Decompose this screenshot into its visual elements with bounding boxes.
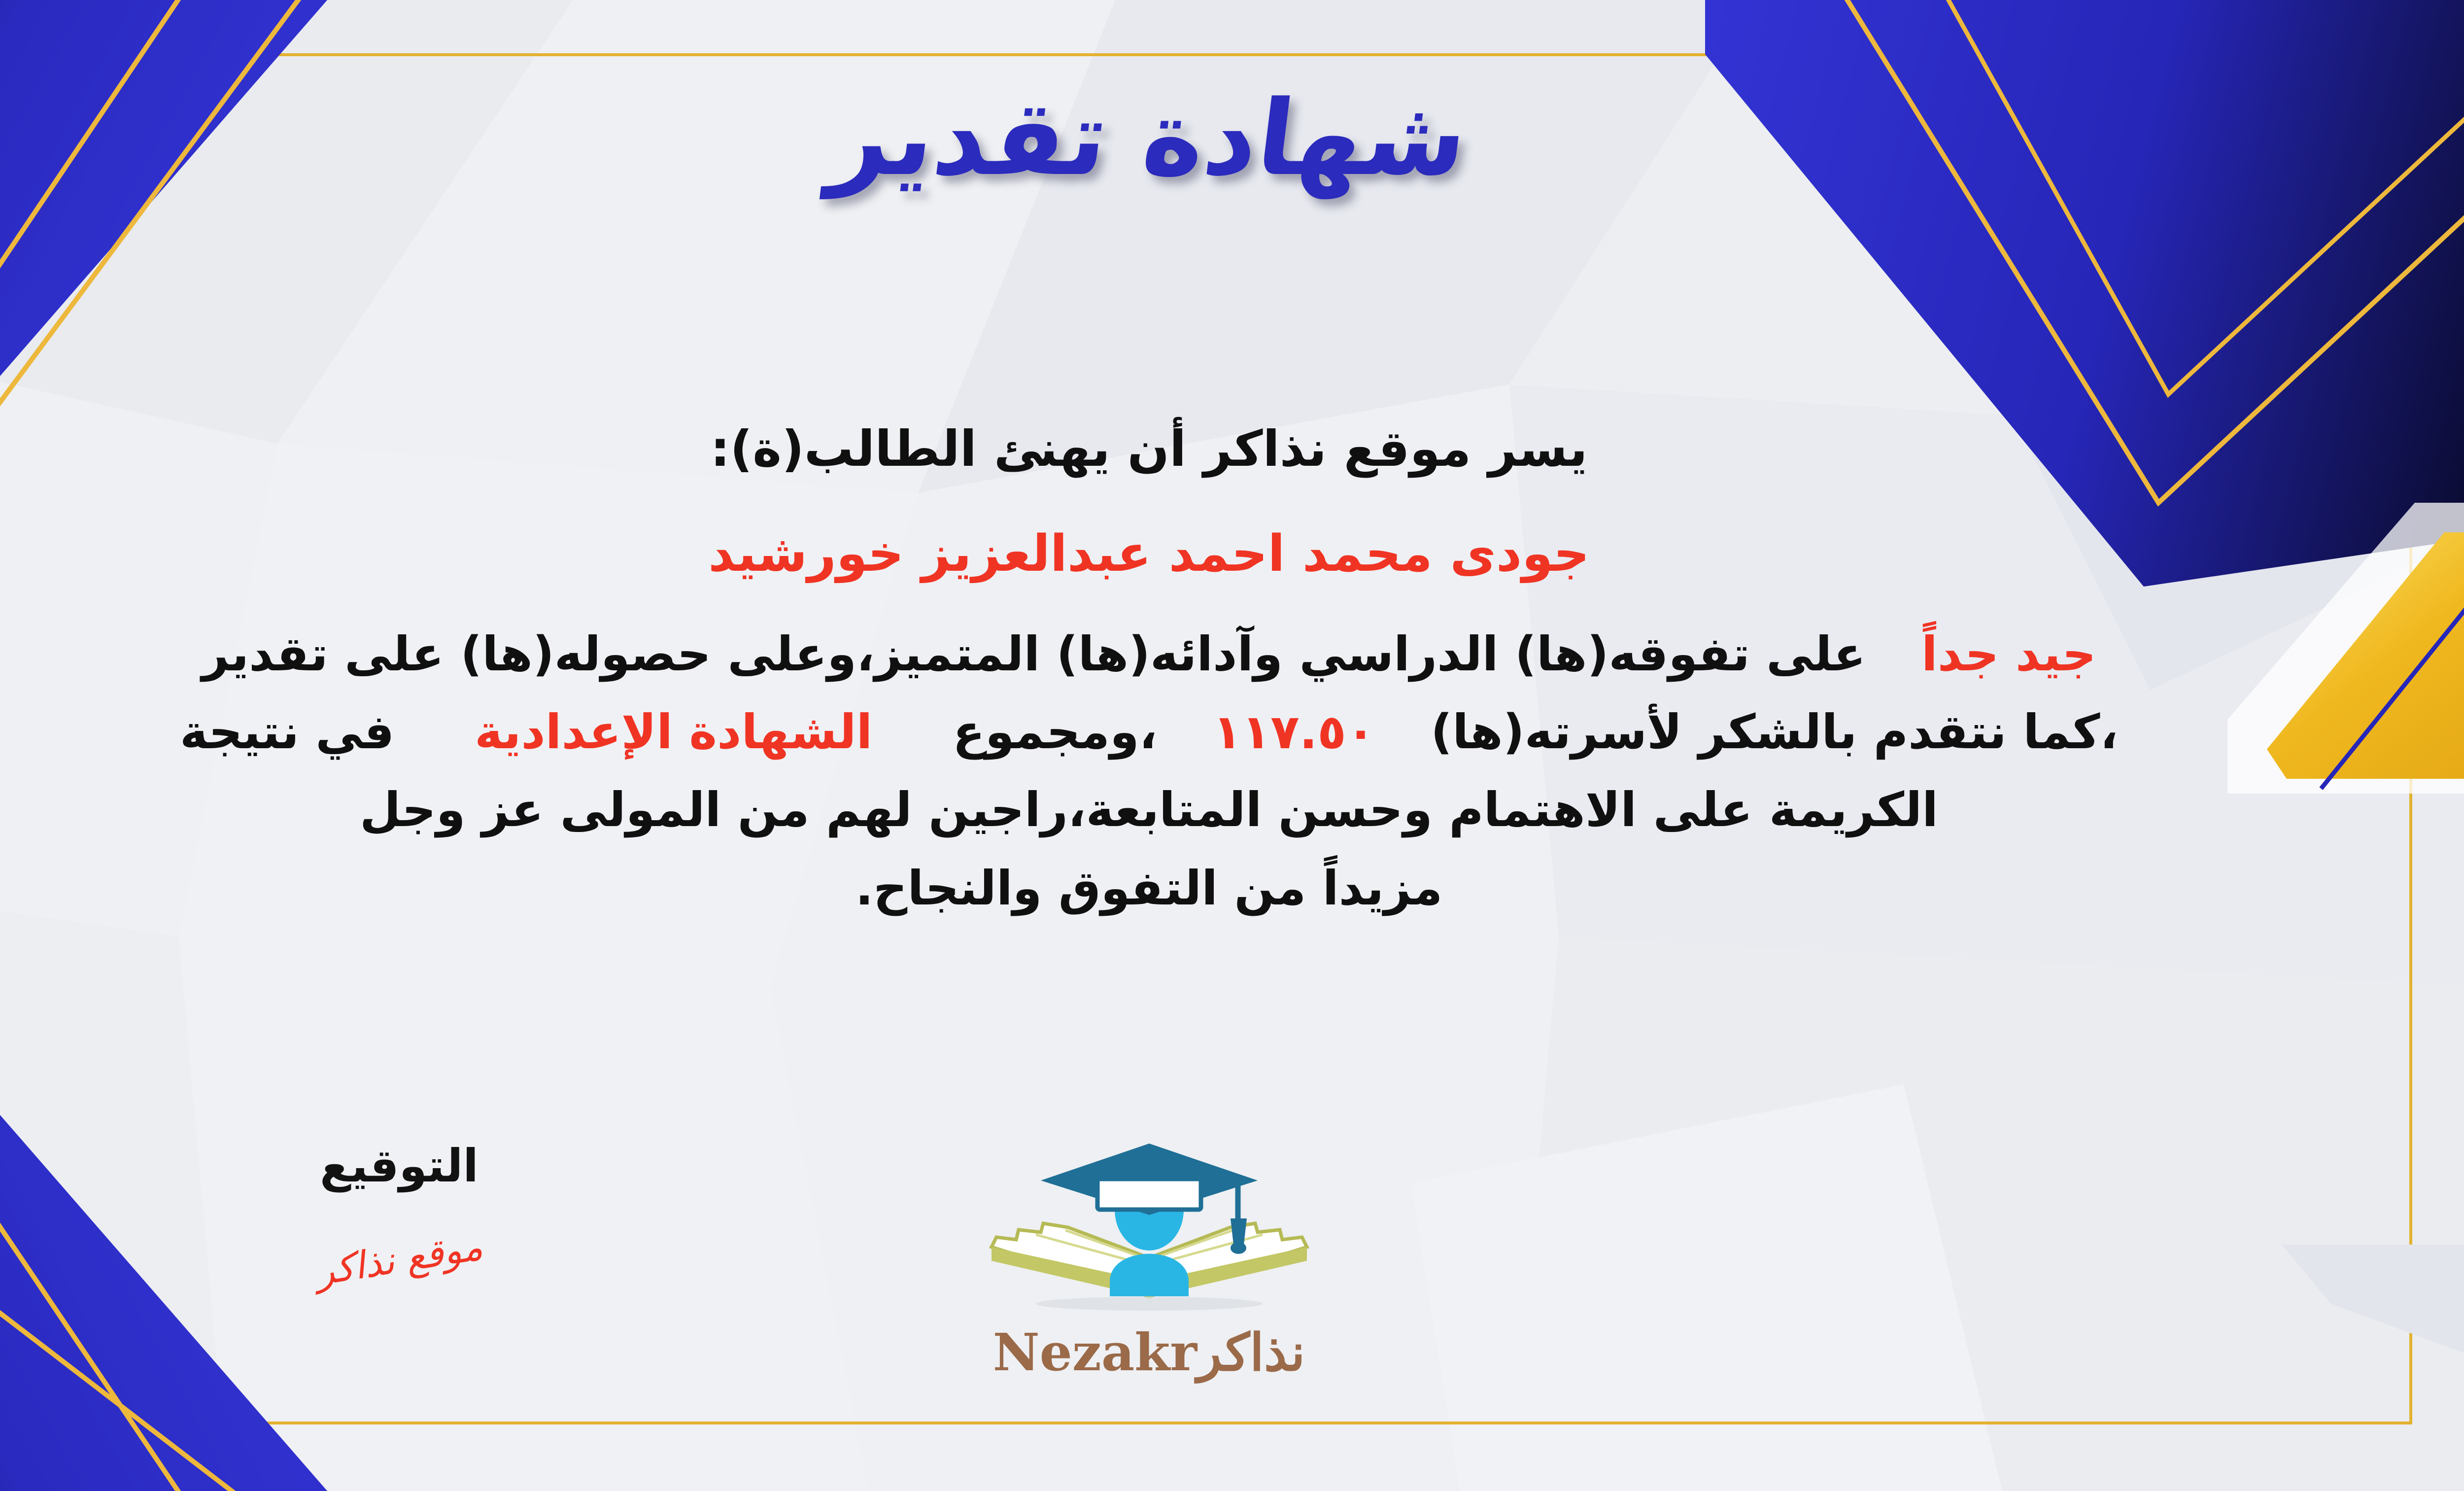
achievement-text: على تفوقه(ها) الدراسي وآدائه(ها) المتميز… [202, 626, 1866, 682]
body-line-wish: مزيداً من التفوق والنجاح. [0, 855, 2336, 922]
graduate-book-icon [962, 1134, 1336, 1331]
body-line-thanks: الكريمة على الاهتمام وحسن المتابعة،راجين… [0, 776, 2336, 843]
result-prefix: في نتيجة [180, 704, 394, 760]
total-score: ١١٧.٥٠ [1213, 704, 1375, 760]
body-line-result: ،كما نتقدم بالشكر لأسرته(ها) ١١٧.٥٠ ،ومج… [0, 698, 2336, 765]
body-line-greeting: يسر موقع نذاكر أن يهنئ الطالب(ة): [0, 414, 2336, 484]
signature-label: التوقيع [246, 1144, 552, 1189]
signature-mark: موقع نذاكر [313, 1224, 486, 1294]
certificate-page: شهادة تقدير يسر موقع نذاكر أن يهنئ الطال… [0, 0, 2464, 1491]
logo-wordmark: نذاكرNezakr [962, 1322, 1336, 1383]
body-line-achievement: جيد جداً على تفوقه(ها) الدراسي وآدائه(ها… [0, 621, 2336, 688]
grade-value: جيد جداً [1921, 626, 2096, 682]
result-suffix: ،كما نتقدم بالشكر لأسرته(ها) [1431, 704, 2118, 760]
signature-block: التوقيع موقع نذاكر [246, 1144, 552, 1281]
certificate-title: شهادة تقدير [0, 74, 2464, 204]
site-logo: نذاكرNezakr [962, 1134, 1336, 1383]
total-label: ،ومجموع [953, 704, 1157, 760]
certificate-body: يسر موقع نذاكر أن يهنئ الطالب(ة): جودى م… [0, 414, 2336, 933]
certificate-name: الشهادة الإعدادية [475, 704, 872, 760]
student-name: جودى محمد احمد عبدالعزيز خورشيد [0, 519, 2336, 590]
